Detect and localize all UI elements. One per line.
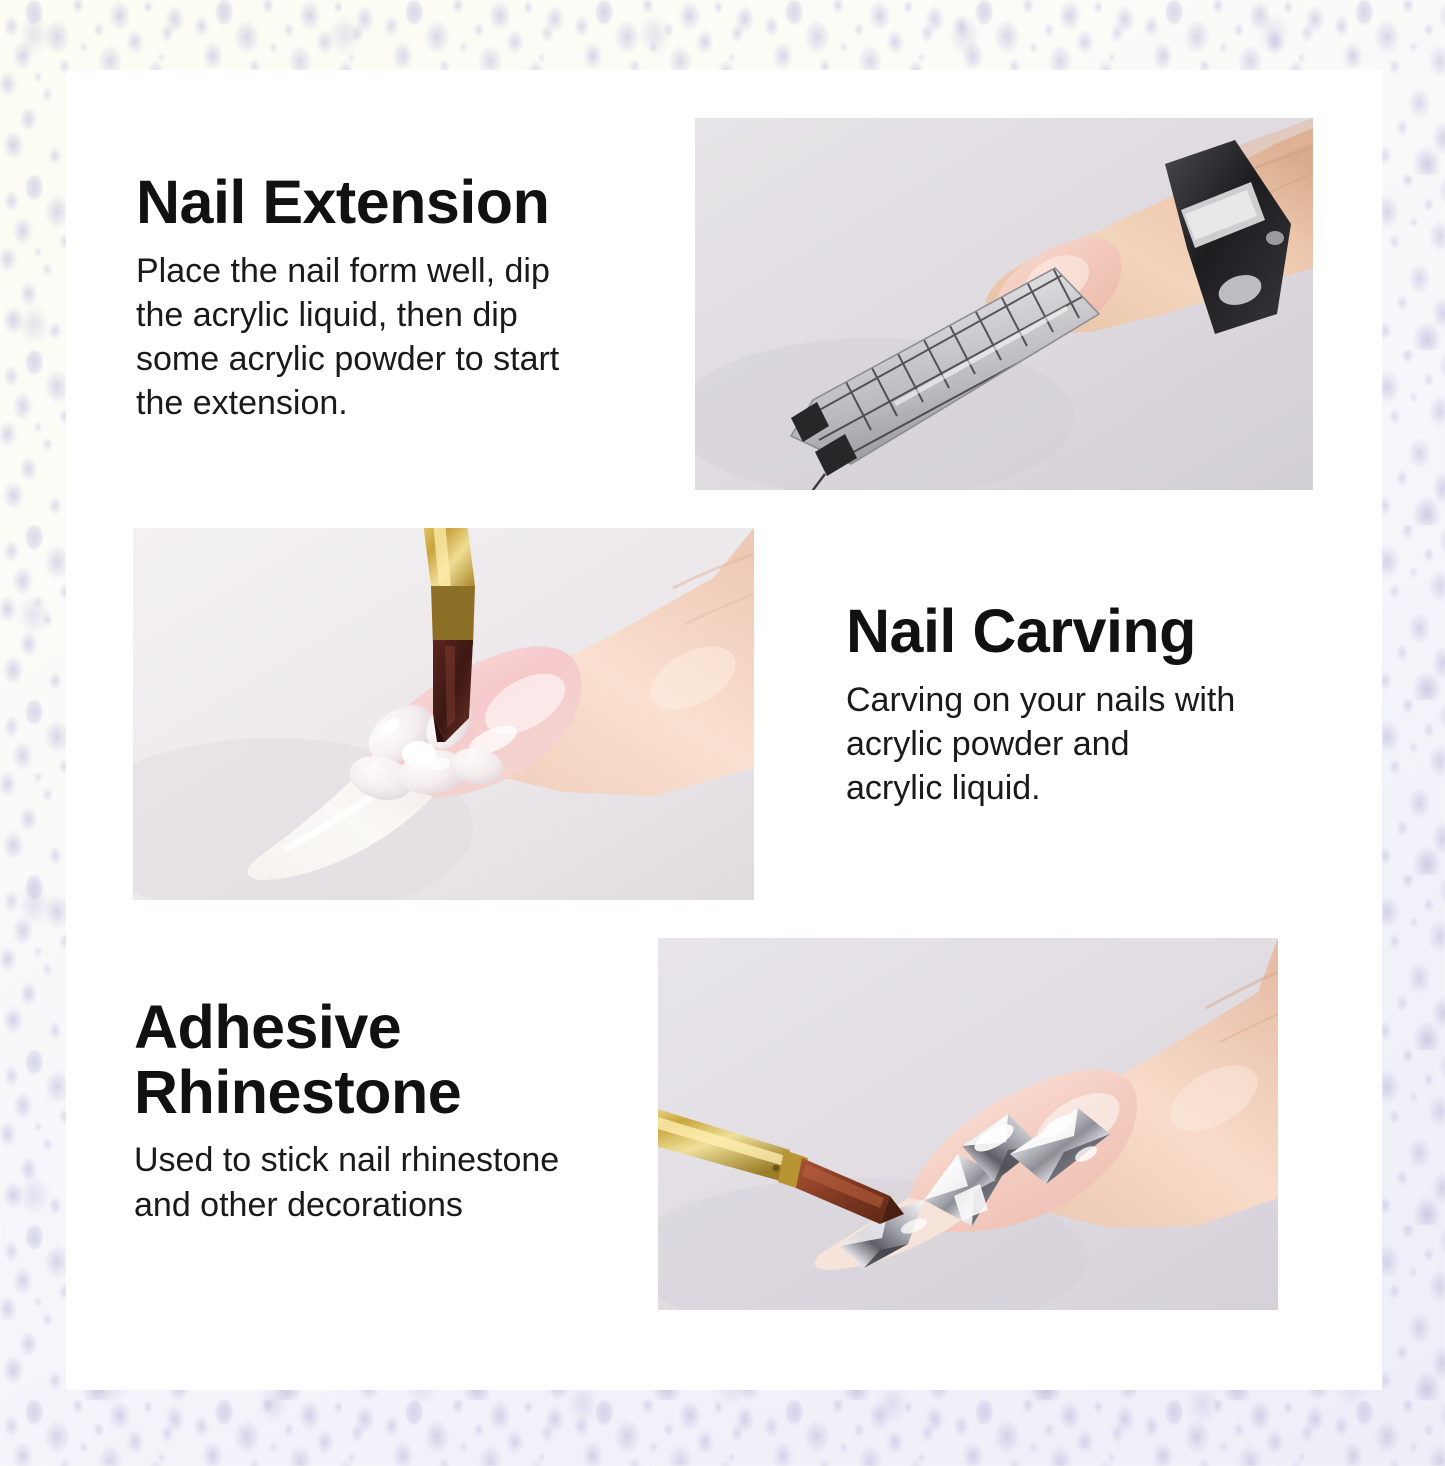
section-title-nail-extension: Nail Extension [136,170,656,235]
section-title-adhesive-rhinestone: Adhesive Rhinestone [134,995,664,1124]
photo-adhesive-rhinestone [658,938,1278,1310]
section-title-nail-carving: Nail Carving [846,599,1346,664]
section-nail-extension: Nail Extension Place the nail form well,… [136,170,656,425]
photo-nail-carving [133,528,754,900]
content-card: Nail Extension Place the nail form well,… [66,70,1382,1390]
section-description-nail-carving: Carving on your nails with acrylic powde… [846,678,1346,811]
section-description-nail-extension: Place the nail form well, dip the acryli… [136,249,656,426]
section-adhesive-rhinestone: Adhesive Rhinestone Used to stick nail r… [134,995,664,1227]
section-description-adhesive-rhinestone: Used to stick nail rhinestone and other … [134,1138,664,1226]
section-nail-carving: Nail Carving Carving on your nails with … [846,599,1346,810]
photo-nail-extension [695,118,1313,490]
